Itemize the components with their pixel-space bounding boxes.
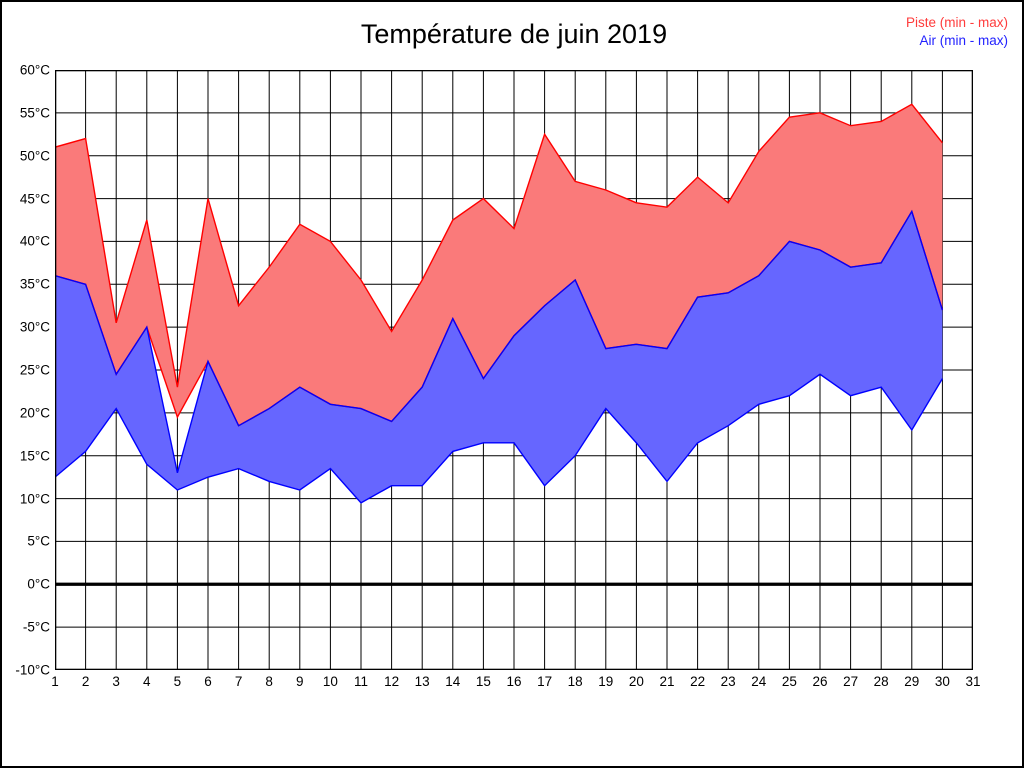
x-axis-tick-label: 25 [782, 674, 797, 689]
x-axis-tick-label: 19 [598, 674, 613, 689]
y-axis-tick-label: 25°C [20, 363, 50, 378]
y-axis-tick-label: 40°C [20, 234, 50, 249]
x-axis-tick-label: 27 [843, 674, 858, 689]
y-axis-tick-label: 0°C [27, 577, 50, 592]
y-axis-tick-label: 30°C [20, 320, 50, 335]
x-axis-tick-label: 11 [354, 674, 368, 689]
x-axis-tick-label: 4 [143, 674, 151, 689]
y-axis-tick-label: 10°C [20, 491, 50, 506]
plot-area [55, 70, 973, 670]
y-axis-tick-label: 45°C [20, 191, 50, 206]
x-axis-tick-label: 1 [51, 674, 59, 689]
x-axis-tick-label: 2 [82, 674, 90, 689]
x-axis-tick-label: 14 [445, 674, 460, 689]
y-axis-tick-label: 15°C [20, 448, 50, 463]
x-axis-tick-label: 21 [659, 674, 674, 689]
x-axis-tick-label: 29 [904, 674, 919, 689]
x-axis-tick-label: 22 [690, 674, 705, 689]
y-axis-tick-label: 20°C [20, 405, 50, 420]
x-axis-tick-label: 12 [384, 674, 399, 689]
x-axis-tick-label: 18 [568, 674, 583, 689]
y-axis-tick-label: 55°C [20, 105, 50, 120]
legend-item-air: Air (min - max) [906, 32, 1008, 50]
x-axis-tick-label: 15 [476, 674, 491, 689]
y-axis-tick-label: -10°C [15, 663, 50, 678]
x-axis-tick-label: 23 [721, 674, 736, 689]
legend: Piste (min - max) Air (min - max) [906, 14, 1008, 50]
x-axis-tick-label: 24 [751, 674, 766, 689]
y-axis-tick-label: 35°C [20, 277, 50, 292]
x-axis-tick-label: 10 [323, 674, 338, 689]
x-axis-tick-label: 16 [506, 674, 521, 689]
legend-item-piste: Piste (min - max) [906, 14, 1008, 32]
x-axis-tick-label: 5 [174, 674, 182, 689]
x-axis-tick-label: 7 [235, 674, 243, 689]
y-axis-tick-label: 5°C [27, 534, 50, 549]
x-axis-tick-label: 6 [204, 674, 212, 689]
page-title: Température de juin 2019 [2, 19, 1024, 50]
x-axis-tick-label: 26 [812, 674, 827, 689]
x-axis-tick-label: 9 [296, 674, 304, 689]
x-axis-tick-label: 17 [537, 674, 552, 689]
x-axis-labels: 1234567891011121314151617181920212223242… [55, 674, 973, 698]
x-axis-tick-label: 28 [874, 674, 889, 689]
y-axis-tick-label: -5°C [23, 620, 50, 635]
chart-page: Température de juin 2019 Piste (min - ma… [0, 0, 1024, 768]
x-axis-tick-label: 8 [265, 674, 273, 689]
y-axis-tick-label: 50°C [20, 148, 50, 163]
x-axis-tick-label: 30 [935, 674, 950, 689]
x-axis-tick-label: 31 [965, 674, 980, 689]
chart-svg [55, 70, 973, 670]
x-axis-tick-label: 3 [112, 674, 120, 689]
y-axis-tick-label: 60°C [20, 63, 50, 78]
y-axis-labels: 60°C55°C50°C45°C40°C35°C30°C25°C20°C15°C… [2, 70, 50, 670]
x-axis-tick-label: 13 [415, 674, 430, 689]
x-axis-tick-label: 20 [629, 674, 644, 689]
